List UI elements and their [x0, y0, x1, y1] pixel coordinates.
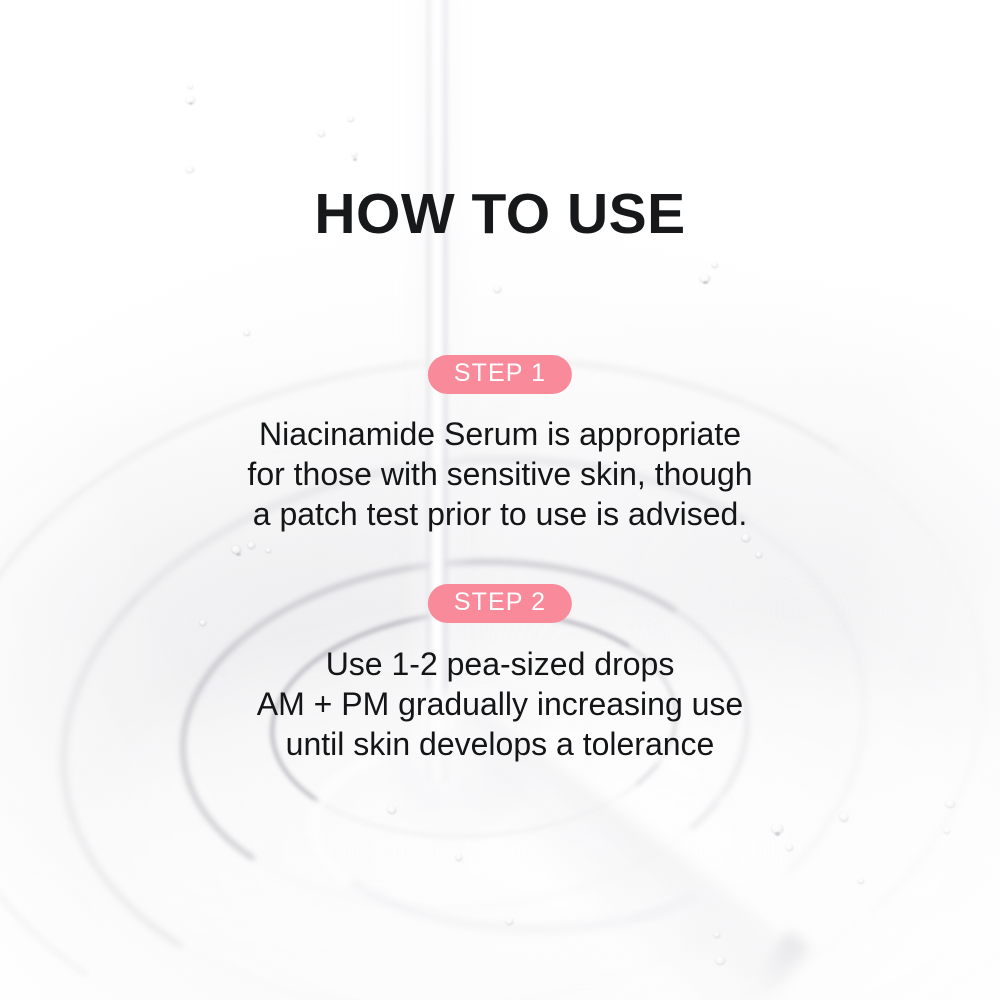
step-2-badge: STEP 2 [428, 584, 572, 623]
step-1-badge: STEP 1 [428, 355, 572, 394]
step-1-text: Niacinamide Serum is appropriate for tho… [0, 414, 1000, 534]
poster-content: HOW TO USE STEP 1 Niacinamide Serum is a… [0, 0, 1000, 1000]
step-2-line-2: AM + PM gradually increasing use [0, 684, 1000, 724]
step-2-text: Use 1-2 pea-sized drops AM + PM graduall… [0, 644, 1000, 764]
how-to-use-poster: HOW TO USE STEP 1 Niacinamide Serum is a… [0, 0, 1000, 1000]
page-title: HOW TO USE [0, 186, 1000, 243]
step-1-line-3: a patch test prior to use is advised. [0, 494, 1000, 534]
step-2-line-1: Use 1-2 pea-sized drops [0, 644, 1000, 684]
step-1-line-1: Niacinamide Serum is appropriate [0, 414, 1000, 454]
step-1-line-2: for those with sensitive skin, though [0, 454, 1000, 494]
step-2-line-3: until skin develops a tolerance [0, 724, 1000, 764]
